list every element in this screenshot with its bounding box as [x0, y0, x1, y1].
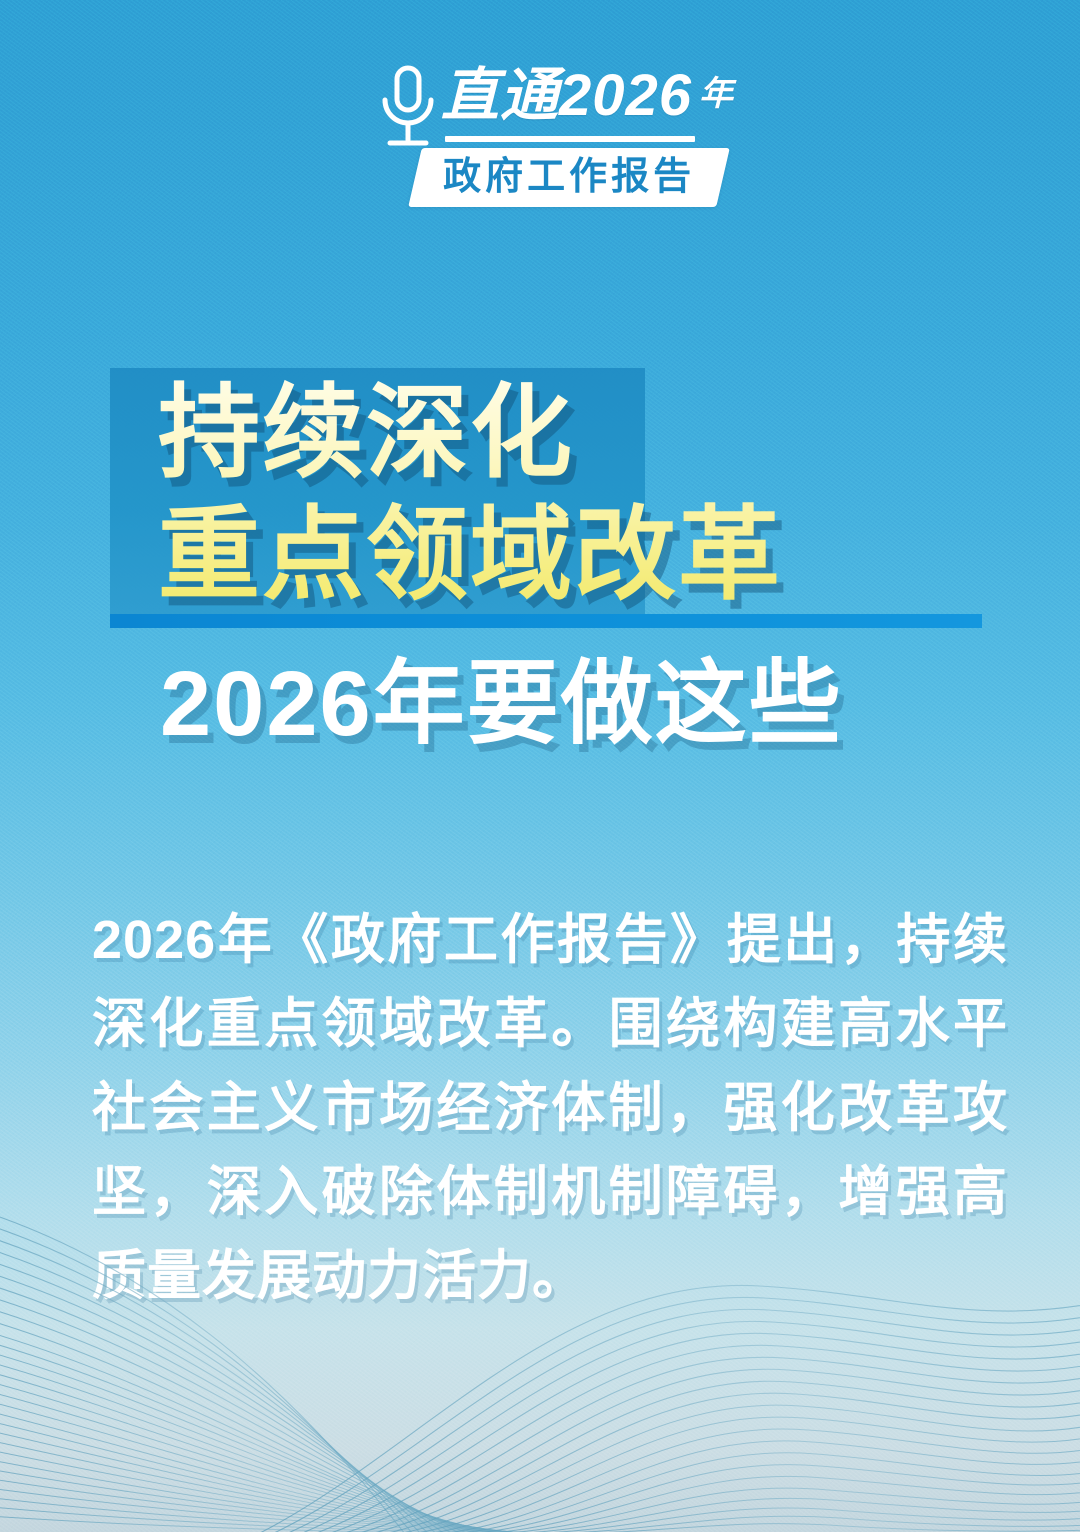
- masthead: 直通2026年 政府工作报告: [0, 58, 1080, 198]
- subtitle: 2026年要做这些: [160, 648, 843, 760]
- headline-line-2: 重点领域改革: [158, 494, 1038, 616]
- program-title: 直通2026年: [441, 60, 734, 140]
- body-paragraph: 2026年《政府工作报告》提出，持续深化重点领域改革。围绕构建高水平社会主义市场…: [92, 898, 1008, 1318]
- report-name-label: 政府工作报告: [443, 155, 695, 199]
- program-logo: 直通2026年 政府工作报告: [375, 58, 705, 198]
- poster-root: 直通2026年 政府工作报告 持续深化 重点领域改革 2026年要做这些 202…: [0, 0, 1080, 1532]
- program-year-number: 2026: [559, 63, 692, 128]
- masthead-rule: [445, 136, 695, 142]
- headline-line-1: 持续深化: [158, 376, 574, 490]
- microphone-icon: [377, 64, 439, 152]
- program-year-suffix: 年: [699, 75, 734, 113]
- accent-bar: [110, 614, 982, 628]
- report-name-plate: 政府工作报告: [408, 148, 730, 207]
- headline: 持续深化 重点领域改革: [158, 372, 1038, 616]
- program-title-text: 直通: [441, 63, 559, 128]
